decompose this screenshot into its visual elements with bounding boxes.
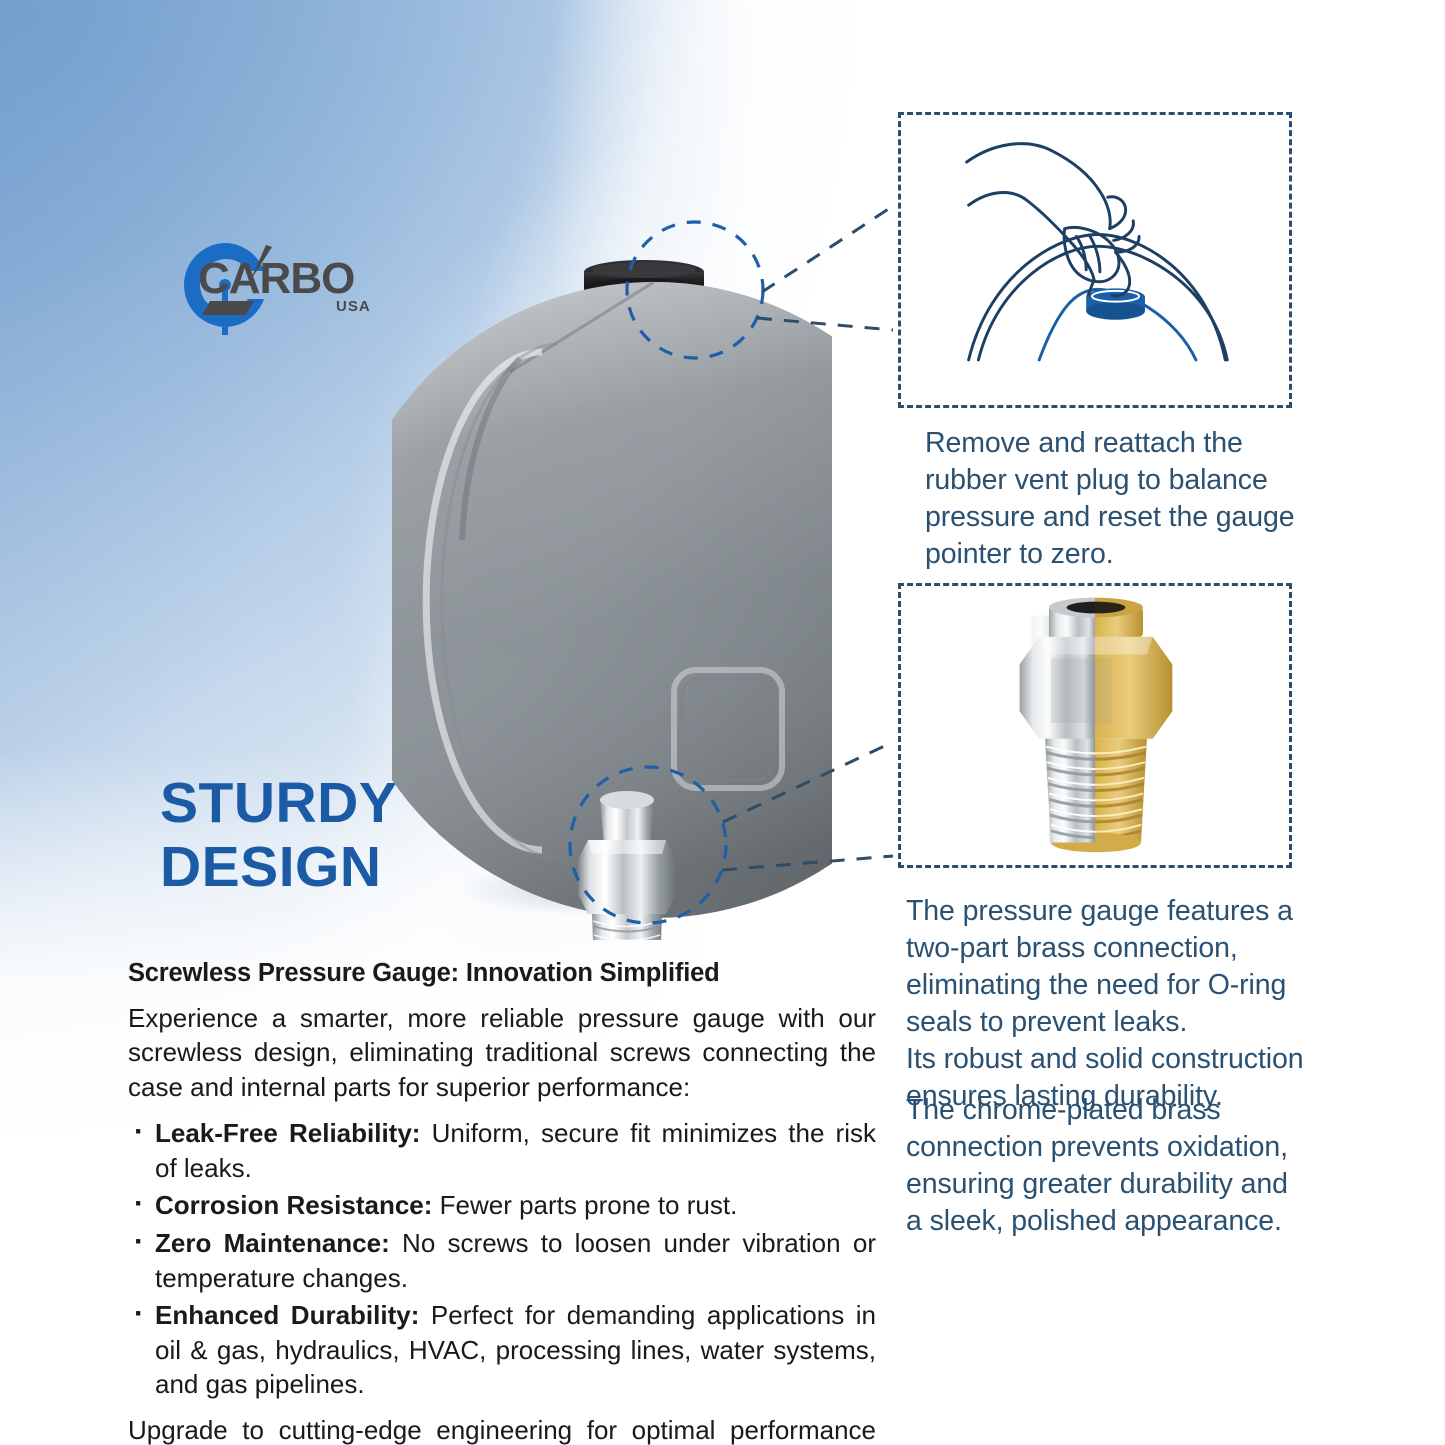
feature-list-item: Leak-Free Reliability: Uniform, secure f… <box>128 1116 876 1185</box>
carbo-logo-icon: CARBO USA <box>168 231 388 339</box>
pressure-gauge-illustration <box>392 240 832 940</box>
callout-caption-chrome: The chrome-plated brass connection preve… <box>906 1092 1311 1240</box>
feature-term: Leak-Free Reliability: <box>155 1118 420 1148</box>
brass-fitting-photo-icon <box>901 586 1289 865</box>
feature-list-item: Enhanced Durability: Perfect for demandi… <box>128 1298 876 1402</box>
svg-text:CARBO: CARBO <box>198 254 354 303</box>
callout-vent-plug <box>898 112 1292 408</box>
carbo-logo: CARBO USA <box>168 231 388 339</box>
callout-caption-vent-plug: Remove and reattach the rubber vent plug… <box>925 425 1320 573</box>
feature-term: Zero Maintenance: <box>155 1228 390 1258</box>
caption-text-primary: The pressure gauge features a two-part b… <box>906 893 1311 1041</box>
vent-plug-disc <box>1086 288 1145 319</box>
feature-term: Corrosion Resistance: <box>155 1190 432 1220</box>
feature-list: Leak-Free Reliability: Uniform, secure f… <box>128 1116 876 1402</box>
caption-text: Remove and reattach the rubber vent plug… <box>925 425 1320 573</box>
infographic-page: CARBO USA STURDY DESIGN <box>0 0 1445 1445</box>
product-description-block: Screwless Pressure Gauge: Innovation Sim… <box>128 958 876 1445</box>
feature-term: Enhanced Durability: <box>155 1300 419 1330</box>
callout-brass-connection <box>898 583 1292 868</box>
feature-list-item: Corrosion Resistance: Fewer parts prone … <box>128 1188 876 1223</box>
description-heading: Screwless Pressure Gauge: Innovation Sim… <box>128 958 876 989</box>
product-image-pressure-gauge <box>392 240 832 940</box>
caption-text: The chrome-plated brass connection preve… <box>906 1092 1311 1240</box>
feature-list-item: Zero Maintenance: No screws to loosen un… <box>128 1226 876 1295</box>
callout-caption-brass: The pressure gauge features a two-part b… <box>906 893 1311 1115</box>
description-outro: Upgrade to cutting-edge engineering for … <box>128 1413 876 1445</box>
hand-removing-vent-plug-icon <box>901 115 1289 405</box>
svg-text:USA: USA <box>336 298 371 315</box>
description-intro: Experience a smarter, more reliable pres… <box>128 1001 876 1105</box>
